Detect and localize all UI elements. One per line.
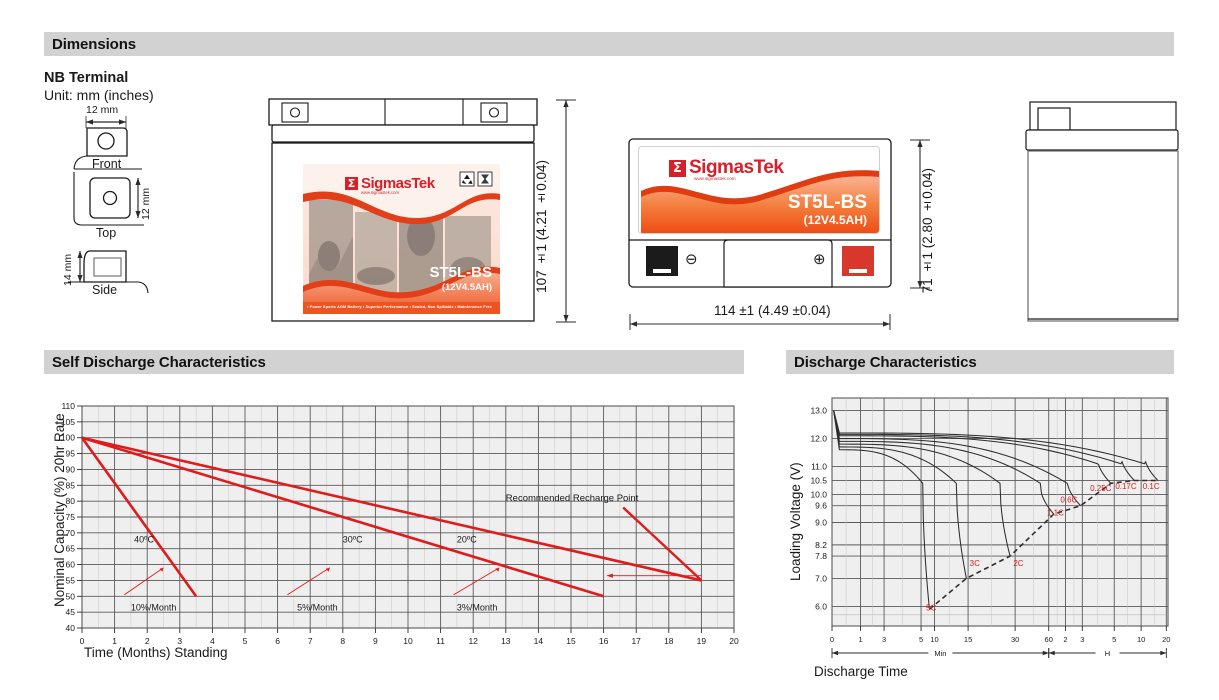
svg-text:95: 95: [66, 449, 76, 459]
negative-terminal-symbol: ⊖: [685, 250, 698, 268]
svg-text:9.0: 9.0: [815, 517, 827, 527]
model-rating-front: (12V4.5AH): [442, 282, 492, 293]
battery-top-label: Σ SigmasTek www.sigmastek.com ST5L-BS (1…: [638, 146, 880, 234]
svg-text:85: 85: [66, 480, 76, 490]
svg-text:2: 2: [1063, 635, 1067, 644]
hourglass-icon: [478, 172, 492, 186]
battery-side-outline: [988, 98, 1178, 324]
svg-text:30ºC: 30ºC: [343, 534, 363, 544]
front-height-dimension: [552, 98, 588, 324]
svg-text:1: 1: [112, 636, 117, 646]
svg-text:Recommended Recharge Point: Recommended Recharge Point: [506, 493, 639, 504]
svg-text:H: H: [1105, 649, 1110, 658]
front-height-value: 107 ±1 (4.21 ±0.04): [534, 160, 549, 293]
svg-text:10: 10: [1137, 635, 1145, 644]
svg-text:110: 110: [61, 401, 75, 411]
svg-text:90: 90: [66, 464, 76, 474]
svg-text:10: 10: [930, 635, 938, 644]
svg-text:1.1C: 1.1C: [1047, 508, 1064, 517]
svg-text:80: 80: [66, 496, 76, 506]
svg-text:3: 3: [882, 635, 886, 644]
battery-front-view: Σ SigmasTek www.sigmastek.com ST5L-BS (1…: [268, 98, 560, 322]
section-header-self-discharge: Self Discharge Characteristics: [44, 350, 744, 374]
self-discharge-chart: Nominal Capacity (%) 20hr Rate Time (Mon…: [44, 382, 744, 672]
svg-text:0: 0: [830, 635, 834, 644]
top-width-value: 114 ±1 (4.49 ±0.04): [714, 303, 831, 318]
svg-text:8: 8: [340, 636, 345, 646]
svg-text:5: 5: [243, 636, 248, 646]
model-number-front: ST5L-BS: [429, 264, 492, 281]
svg-text:7: 7: [308, 636, 313, 646]
section-header-discharge: Discharge Characteristics: [786, 350, 1174, 374]
svg-text:2C: 2C: [1013, 559, 1023, 568]
svg-text:70: 70: [66, 528, 76, 538]
svg-text:14: 14: [534, 636, 544, 646]
svg-text:10.5: 10.5: [810, 476, 827, 486]
section-header-discharge-label: Discharge Characteristics: [794, 354, 977, 371]
svg-text:20: 20: [1162, 635, 1170, 644]
svg-text:45: 45: [66, 607, 76, 617]
brand-url-front: www.sigmastek.com: [361, 190, 399, 195]
svg-text:20: 20: [729, 636, 739, 646]
svg-text:7.8: 7.8: [815, 551, 827, 561]
section-header-dimensions: Dimensions: [44, 32, 1174, 56]
svg-text:55: 55: [66, 575, 76, 585]
svg-text:13: 13: [501, 636, 511, 646]
svg-text:5: 5: [919, 635, 923, 644]
svg-text:13.0: 13.0: [810, 406, 827, 416]
svg-text:0.6C: 0.6C: [1060, 495, 1077, 504]
svg-text:6: 6: [275, 636, 280, 646]
svg-text:5%/Month: 5%/Month: [297, 603, 338, 613]
svg-text:3%/Month: 3%/Month: [457, 603, 498, 613]
view-name-front: Front: [92, 157, 121, 171]
discharge-plot: 6.07.07.88.29.09.610.010.511.012.013.001…: [786, 386, 1186, 676]
svg-text:6.0: 6.0: [815, 601, 827, 611]
svg-text:60: 60: [66, 560, 76, 570]
view-name-side: Side: [92, 283, 117, 297]
svg-text:11.0: 11.0: [811, 462, 827, 472]
top-height-label: 12 mm: [140, 178, 152, 220]
svg-text:1: 1: [858, 635, 862, 644]
svg-text:65: 65: [66, 544, 76, 554]
svg-text:60: 60: [1045, 635, 1053, 644]
svg-text:30: 30: [1011, 635, 1019, 644]
svg-text:4: 4: [210, 636, 215, 646]
svg-text:2: 2: [145, 636, 150, 646]
svg-text:10.0: 10.0: [810, 490, 827, 500]
svg-text:11: 11: [436, 636, 445, 646]
svg-text:18: 18: [664, 636, 674, 646]
model-rating-top: (12V4.5AH): [804, 213, 867, 227]
svg-text:9: 9: [373, 636, 378, 646]
svg-text:20ºC: 20ºC: [457, 534, 477, 544]
recycle-icon: [460, 172, 474, 186]
brand-url-top: www.sigmastek.com: [694, 176, 736, 181]
label-tagline: • Power Sports AGM Battery • Superior Pe…: [307, 304, 492, 309]
svg-text:100: 100: [61, 433, 75, 443]
section-header-self-discharge-label: Self Discharge Characteristics: [52, 354, 266, 371]
battery-front-label: Σ SigmasTek www.sigmastek.com ST5L-BS (1…: [303, 164, 500, 314]
svg-text:50: 50: [66, 591, 76, 601]
svg-text:12.0: 12.0: [810, 434, 827, 444]
side-height-label: 14 mm: [62, 248, 74, 286]
svg-text:5C: 5C: [926, 604, 936, 613]
svg-text:17: 17: [631, 636, 641, 646]
view-name-top: Top: [96, 226, 116, 240]
svg-text:12: 12: [468, 636, 478, 646]
svg-text:15: 15: [964, 635, 972, 644]
svg-text:0.1C: 0.1C: [1143, 482, 1160, 491]
battery-side-view: [988, 98, 1178, 322]
svg-text:10%/Month: 10%/Month: [131, 603, 177, 613]
label-icons: [460, 172, 494, 186]
svg-text:75: 75: [66, 512, 76, 522]
terminal-drawing-svg: [44, 68, 234, 330]
svg-text:105: 105: [61, 417, 75, 427]
svg-text:9.6: 9.6: [815, 501, 827, 511]
svg-text:15: 15: [566, 636, 576, 646]
svg-text:5: 5: [1112, 635, 1116, 644]
svg-text:0: 0: [80, 636, 85, 646]
discharge-chart: Loading Voltage (V) Discharge Time 6.07.…: [786, 382, 1186, 682]
svg-text:40: 40: [66, 623, 76, 633]
svg-text:16: 16: [599, 636, 609, 646]
sigma-logo-icon-top: Σ: [669, 160, 686, 177]
svg-text:3: 3: [1080, 635, 1084, 644]
top-height-value: 71 ±1 (2.80 ±0.04): [920, 168, 935, 293]
svg-text:3C: 3C: [970, 559, 980, 568]
svg-text:19: 19: [697, 636, 707, 646]
terminal-diagrams: 12 mm 12 mm 14 mm Front: [44, 68, 234, 330]
sigma-logo-icon: Σ: [345, 177, 358, 190]
positive-terminal-symbol: ⊕: [813, 250, 826, 268]
svg-text:10: 10: [403, 636, 413, 646]
svg-text:8.2: 8.2: [815, 540, 827, 550]
model-number-top: ST5L-BS: [788, 192, 867, 214]
svg-text:0.25C: 0.25C: [1090, 484, 1112, 493]
section-header-dimensions-label: Dimensions: [52, 36, 136, 53]
svg-text:7.0: 7.0: [815, 573, 827, 583]
svg-text:40ºC: 40ºC: [134, 534, 154, 544]
svg-text:Min: Min: [934, 649, 946, 658]
svg-text:3: 3: [177, 636, 182, 646]
svg-text:0.17C: 0.17C: [1115, 482, 1137, 491]
self-discharge-plot: 0123456789101112131415161718192040455055…: [44, 396, 744, 656]
battery-top-view: Σ SigmasTek www.sigmastek.com ST5L-BS (1…: [628, 138, 918, 288]
